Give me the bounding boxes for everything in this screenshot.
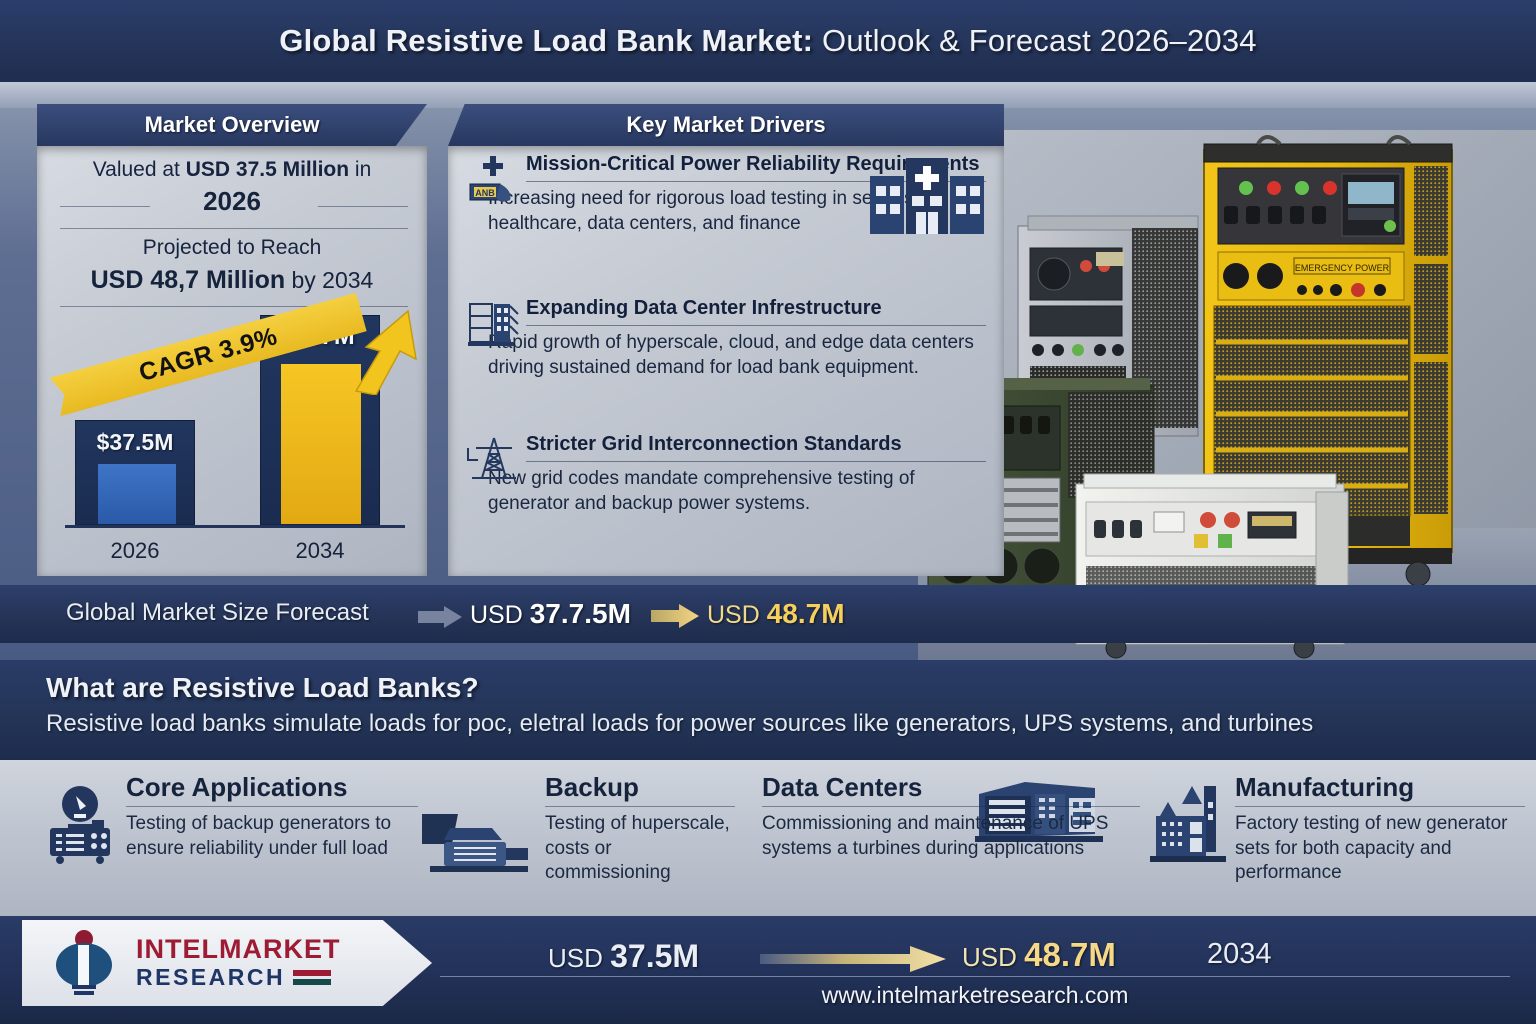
overview-projected-amount: USD 48,7 Million bbox=[91, 266, 285, 294]
overview-base-year: 2026 bbox=[37, 186, 427, 217]
application-4-desc: Factory testing of new generator sets fo… bbox=[1235, 812, 1525, 886]
forecast-to-prefix: USD bbox=[707, 601, 767, 629]
divider bbox=[545, 806, 735, 807]
what-are-description: Resistive load banks simulate loads for … bbox=[46, 710, 1516, 738]
forecast-to-value: 48.7M bbox=[767, 598, 845, 629]
overview-valued-prefix: Valued at bbox=[93, 158, 186, 181]
forecast-strip-to: USD 48.7M bbox=[707, 598, 845, 630]
page-title-sub: Outlook & Forecast 2026–2034 bbox=[822, 23, 1257, 58]
forecast-strip-label: Global Market Size Forecast bbox=[66, 599, 369, 627]
divider bbox=[60, 228, 408, 229]
driver-item-2: Expanding Data Center Infrestructure Rap… bbox=[466, 296, 986, 380]
footer-to-amount: 48.7M bbox=[1024, 936, 1116, 973]
footer-from-value: USD 37.5M bbox=[548, 938, 699, 975]
divider bbox=[762, 806, 1140, 807]
overview-projected-year: by 2034 bbox=[285, 267, 373, 293]
generator-icon bbox=[420, 808, 540, 880]
logo-accent-bars bbox=[293, 970, 331, 985]
bar-2026-fill bbox=[98, 464, 176, 524]
divider bbox=[526, 325, 986, 326]
intelmarket-logo-icon bbox=[44, 927, 130, 999]
application-manufacturing: Manufacturing Factory testing of new gen… bbox=[1235, 772, 1525, 886]
bulb-loadbank-icon bbox=[46, 784, 124, 864]
overview-valuation-line: Valued at USD 37.5 Million in bbox=[37, 156, 427, 184]
market-overview-heading-text: Market Overview bbox=[145, 112, 320, 138]
growth-arrow-icon bbox=[350, 307, 424, 395]
application-2-desc: Testing of huperscale, costs or commissi… bbox=[545, 812, 735, 886]
footer-arrow-right-icon bbox=[760, 946, 946, 972]
logo-line-2: RESEARCH bbox=[136, 964, 340, 991]
application-core-applications: Core Applications Testing of backup gene… bbox=[126, 772, 418, 861]
forecast-from-prefix: USD bbox=[470, 601, 530, 629]
building-icon bbox=[466, 298, 522, 348]
divider bbox=[1235, 806, 1525, 807]
logo-line-2-text: RESEARCH bbox=[136, 964, 285, 991]
divider bbox=[526, 461, 986, 462]
footer-from-amount: 37.5M bbox=[610, 938, 699, 974]
driver-3-desc: New grid codes mandate comprehensive tes… bbox=[466, 466, 986, 516]
overview-valued-suffix: in bbox=[349, 158, 371, 181]
footer-to-value: USD 48.7M bbox=[962, 936, 1116, 974]
what-are-title: What are Resistive Load Banks? bbox=[46, 672, 479, 704]
application-backup: Backup Testing of huperscale, costs or c… bbox=[545, 772, 735, 886]
divider bbox=[60, 206, 150, 207]
application-1-desc: Testing of backup generators to ensure r… bbox=[126, 812, 418, 861]
footer-website-url[interactable]: www.intelmarketresearch.com bbox=[440, 982, 1510, 1009]
driver-item-3: Stricter Grid Interconnection Standards … bbox=[466, 432, 986, 516]
overview-projection-line: USD 48,7 Million by 2034 bbox=[37, 266, 427, 295]
x-tick-2026: 2026 bbox=[75, 538, 195, 564]
logo-plate: INTELMARKET RESEARCH bbox=[22, 920, 432, 1006]
application-2-title: Backup bbox=[545, 772, 735, 803]
key-market-drivers-heading: Key Market Drivers bbox=[448, 104, 1004, 146]
pylon-icon bbox=[466, 434, 522, 484]
page-title: Global Resistive Load Bank Market: Outlo… bbox=[279, 23, 1257, 59]
forecast-from-value: 37.7.5M bbox=[530, 598, 631, 629]
logo-wordmark: INTELMARKET RESEARCH bbox=[136, 935, 340, 990]
bar-2026-value-label: $37.5M bbox=[76, 429, 194, 456]
forecast-strip-from: USD 37.7.5M bbox=[470, 598, 631, 630]
title-bar: Global Resistive Load Bank Market: Outlo… bbox=[0, 0, 1536, 82]
footer-target-year: 2034 bbox=[1207, 938, 1272, 971]
chart-baseline-axis bbox=[65, 525, 405, 528]
page-title-main: Global Resistive Load Bank Market: bbox=[279, 23, 813, 58]
cagr-label: CAGR 3.9% bbox=[136, 322, 281, 388]
factory-icon bbox=[1148, 782, 1236, 866]
x-tick-2034: 2034 bbox=[260, 538, 380, 564]
load-bank-equipment-photo: EMERGENCY POWER bbox=[918, 130, 1536, 660]
divider bbox=[126, 806, 418, 807]
book-plus-icon: ANB bbox=[466, 154, 522, 204]
logo-bar-teal bbox=[293, 979, 331, 985]
overview-projection-label: Projected to Reach bbox=[37, 236, 427, 260]
market-overview-heading: Market Overview bbox=[37, 104, 427, 146]
key-market-drivers-heading-text: Key Market Drivers bbox=[626, 112, 825, 138]
application-1-title: Core Applications bbox=[126, 772, 418, 803]
hospital-icon bbox=[868, 156, 986, 236]
application-3-desc: Commissioning and maintenance of UPS sys… bbox=[762, 812, 1140, 861]
infographic-root: Global Resistive Load Bank Market: Outlo… bbox=[0, 0, 1536, 1024]
bar-2034-fill bbox=[281, 364, 361, 524]
arrow-right-gold-icon bbox=[651, 604, 699, 628]
application-data-centers: Data Centers Commissioning and maintenan… bbox=[762, 772, 1140, 861]
bar-2026: $37.5M bbox=[75, 420, 195, 525]
driver-2-desc: Rapid growth of hyperscale, cloud, and e… bbox=[466, 330, 986, 380]
arrow-right-icon bbox=[418, 606, 462, 628]
overview-valued-amount: USD 37.5 Million bbox=[186, 158, 349, 181]
divider bbox=[440, 976, 1510, 977]
application-4-title: Manufacturing bbox=[1235, 772, 1525, 803]
driver-3-title: Stricter Grid Interconnection Standards bbox=[466, 432, 986, 457]
footer-from-prefix: USD bbox=[548, 943, 610, 973]
market-size-bar-chart: $37.5M 48.7M 2026 2034 CAGR 3.9% bbox=[45, 315, 425, 570]
driver-2-title: Expanding Data Center Infrestructure bbox=[466, 296, 986, 321]
application-3-title: Data Centers bbox=[762, 772, 1140, 803]
svg-text:EMERGENCY POWER: EMERGENCY POWER bbox=[1295, 263, 1390, 273]
divider bbox=[318, 206, 408, 207]
logo-bar-red bbox=[293, 970, 331, 976]
footer-to-prefix: USD bbox=[962, 942, 1024, 972]
logo-line-1: INTELMARKET bbox=[136, 935, 340, 963]
svg-text:ANB: ANB bbox=[475, 188, 495, 198]
